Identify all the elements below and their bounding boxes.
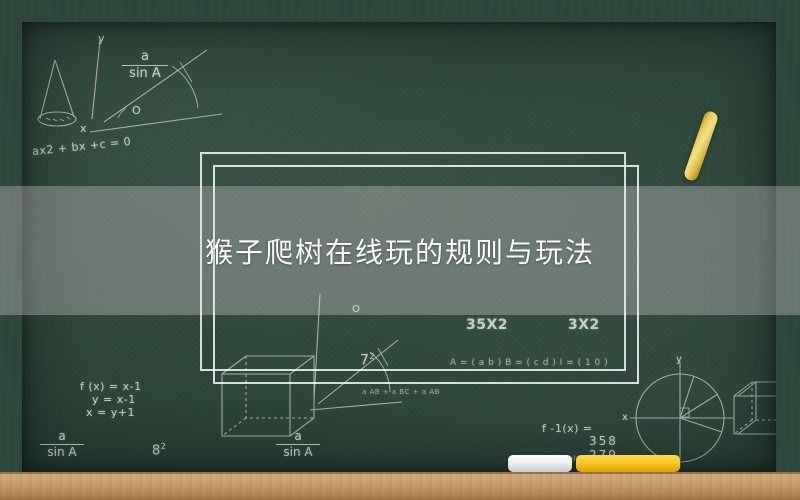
chalk-exponent-base: 8	[152, 443, 161, 458]
chalk-equation-quadratic: ax2 + bx +c = 0	[32, 135, 132, 158]
wooden-chalk-ledge	[0, 472, 800, 500]
chalk-equation-y: y = x-1	[92, 393, 136, 406]
chalk-exponent-value: 2	[161, 442, 167, 451]
chalk-fraction-a-over-sinA-bottomcenter: a sin A	[276, 430, 320, 458]
chalk-equation-x: x = y+1	[86, 406, 135, 419]
chalk-fraction-bar	[40, 444, 84, 445]
chalk-exponent-8-squared: 82	[152, 442, 166, 458]
chalk-axis-label-y-topleft: y	[98, 32, 105, 45]
chalk-fraction-numerator: a	[122, 50, 168, 64]
chalkboard-title-card: a sin A y x O ax2 + bx +c = 0 f (x) = x-…	[0, 0, 800, 500]
chalk-fraction-denominator: sin A	[276, 446, 320, 459]
yellow-chalk-stick[interactable]	[683, 110, 720, 183]
chalk-fraction-numerator: a	[40, 430, 84, 443]
chalk-equation-fx: f (x) = x-1	[80, 380, 142, 393]
ledge-wood-grain	[0, 472, 800, 500]
chalk-fraction-a-over-sinA-bottomleft: a sin A	[40, 430, 84, 458]
chalk-axis-label-x-right: x	[622, 412, 628, 423]
yellow-chalk-piece[interactable]	[576, 455, 680, 472]
chalk-axis-label-x-topleft: x	[80, 122, 87, 135]
chalk-fraction-bar	[276, 444, 320, 445]
page-title: 猴子爬树在线玩的规则与玩法	[0, 186, 800, 315]
chalk-equation-inverse-f: f -1(x) =	[542, 422, 593, 435]
chalk-axis-label-y-right: y	[676, 354, 682, 365]
chalk-fraction-numerator: a	[276, 430, 320, 443]
chalk-fraction-denominator: sin A	[40, 446, 84, 459]
chalk-angle-label-o-topleft: O	[132, 104, 141, 117]
chalk-arithmetic-row-1: 358	[589, 434, 618, 448]
chalk-fraction-a-over-sinA-topleft: a sin A	[122, 50, 168, 80]
chalk-fraction-bar	[122, 65, 168, 66]
chalk-equation-vectors: a AB + a BC + a AB	[362, 388, 440, 396]
chalk-fraction-denominator: sin A	[122, 67, 168, 81]
white-chalk-piece[interactable]	[508, 455, 572, 472]
